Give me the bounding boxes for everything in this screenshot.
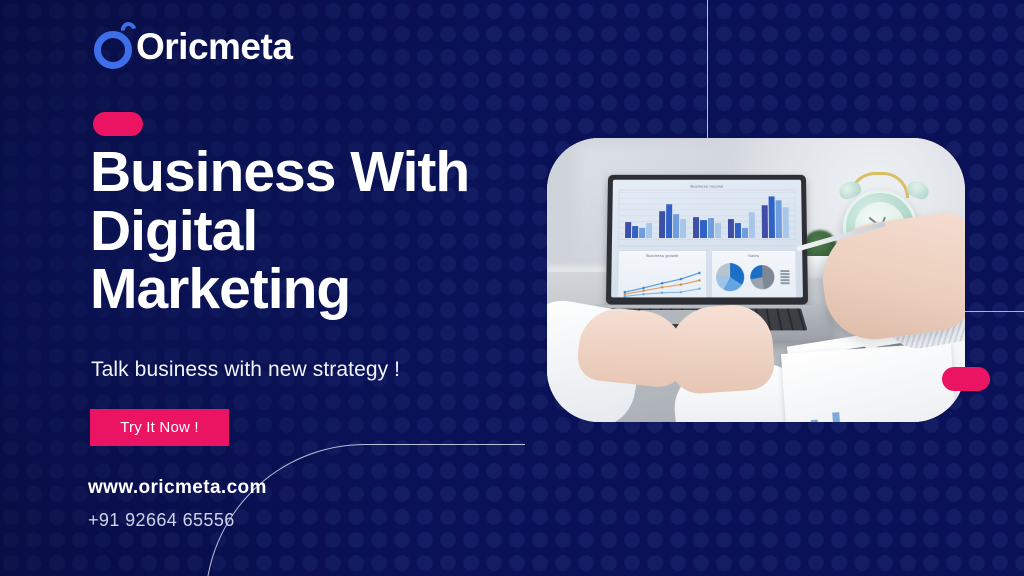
line-point (624, 295, 627, 297)
subtitle: Talk business with new strategy ! (91, 358, 400, 382)
line-point (642, 289, 645, 292)
bar-chart (618, 190, 796, 247)
bar (728, 219, 734, 238)
bar (680, 219, 686, 238)
line-point (698, 279, 700, 281)
headline-line-1: Business With (90, 143, 560, 202)
hero-photo: Business income Business growth Sales (547, 138, 965, 422)
bar (735, 223, 741, 238)
bar-chart-bars (625, 194, 789, 238)
headline-line-3: Marketing (90, 260, 560, 319)
report-bar-chart (799, 410, 841, 422)
pie-chart-primary (716, 263, 744, 291)
promo-banner: Oricmeta Business With Digital Marketing… (0, 0, 1024, 576)
laptop-screen: Business income Business growth Sales (611, 180, 803, 298)
pink-pill-badge (93, 112, 143, 136)
line-point (680, 283, 682, 285)
line-point (698, 272, 700, 274)
bar (700, 221, 706, 238)
bar (707, 218, 713, 238)
bar (639, 228, 645, 238)
bar (673, 214, 679, 238)
line-chart-svg (623, 265, 701, 297)
line-point (642, 287, 645, 290)
headline-line-2: Digital (90, 202, 560, 261)
dashboard: Business income Business growth Sales (611, 180, 803, 298)
line-point (661, 286, 664, 288)
bar (715, 223, 721, 238)
pink-pill-accent-right (942, 367, 990, 391)
line-chart: Business growth (617, 250, 707, 297)
line-point (698, 287, 700, 290)
brand-logo[interactable]: Oricmeta (92, 22, 292, 70)
bar (775, 201, 781, 238)
bar-group (659, 194, 686, 238)
line-point (680, 291, 682, 294)
bar (768, 196, 774, 238)
dashboard-lower-row: Business growth Sales (617, 250, 797, 297)
oricmeta-ring-icon (92, 22, 140, 70)
report-paper-front (781, 342, 959, 422)
bar (625, 222, 631, 238)
line-point (661, 292, 664, 295)
bar-group (693, 194, 720, 238)
bar (646, 223, 652, 238)
bar (783, 207, 789, 238)
pie-chart-card: Sales (711, 250, 797, 297)
bar (762, 206, 768, 238)
bar-group (625, 194, 653, 238)
bar-group (761, 194, 789, 238)
website-link[interactable]: www.oricmeta.com (88, 474, 267, 502)
bar (693, 217, 699, 238)
contact-info: www.oricmeta.com +91 92664 65556 (88, 474, 267, 534)
bar (632, 226, 638, 238)
brand-name: Oricmeta (136, 28, 292, 65)
phone-number[interactable]: +91 92664 65556 (88, 507, 267, 534)
desk-scene: Business income Business growth Sales (547, 138, 965, 422)
page-title: Business With Digital Marketing (90, 143, 560, 319)
line-point (642, 293, 645, 296)
bar (666, 204, 672, 238)
bar-group (727, 194, 754, 238)
laptop-lid: Business income Business growth Sales (606, 175, 808, 305)
pie-chart-secondary (750, 265, 774, 289)
pie-legend (780, 270, 789, 284)
vertical-accent-line (707, 0, 708, 142)
bar-chart-title: Business income (619, 184, 796, 189)
bar (659, 211, 665, 238)
pie-chart-title: Sales (712, 253, 795, 258)
line-chart-title: Business growth (619, 253, 706, 258)
bar (749, 212, 755, 238)
line-point (661, 282, 664, 284)
try-it-now-button[interactable]: Try It Now ! (90, 409, 229, 446)
pie-charts (716, 263, 792, 291)
bar (742, 228, 748, 238)
line-point (680, 278, 682, 280)
